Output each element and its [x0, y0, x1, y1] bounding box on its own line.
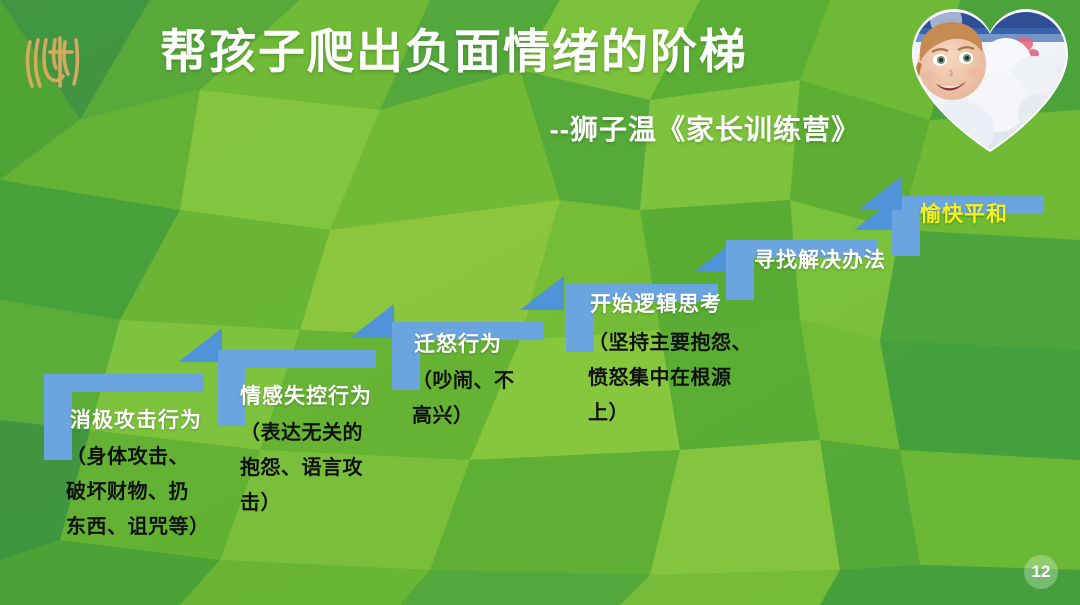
- step-riser-wedge-1: [174, 328, 224, 370]
- step-4-desc: （坚持主要抱怨、 愤怒集中在根源 上）: [588, 326, 798, 431]
- step-5-title: 寻找解决办法: [754, 244, 886, 274]
- step-riser-wedge-2: [346, 304, 396, 346]
- emotion-ladder-staircase: 消极攻击行为 （身体攻击、 破坏财物、扔 东西、诅咒等） 情感失控行为 （表达无…: [0, 0, 1080, 605]
- step-1-desc: （身体攻击、 破坏财物、扔 东西、诅咒等）: [66, 440, 246, 545]
- step-4-title: 开始逻辑思考: [590, 288, 722, 318]
- page-number-badge: 12: [1024, 555, 1058, 589]
- step-6-title: 愉快平和: [920, 198, 1008, 228]
- slide-canvas: 帮孩子爬出负面情绪的阶梯 --狮子温《家长训练营》: [0, 0, 1080, 605]
- step-2-desc: （表达无关的 抱怨、语言攻 击）: [240, 416, 420, 521]
- step-1-title: 消极攻击行为: [70, 404, 202, 434]
- step-2-title: 情感失控行为: [240, 380, 372, 410]
- step-3-desc: （吵闹、不 高兴）: [412, 364, 582, 434]
- step-riser-wedge-6: [854, 176, 904, 218]
- step-3-title: 迁怒行为: [414, 328, 502, 358]
- step-riser-wedge-3: [516, 276, 566, 318]
